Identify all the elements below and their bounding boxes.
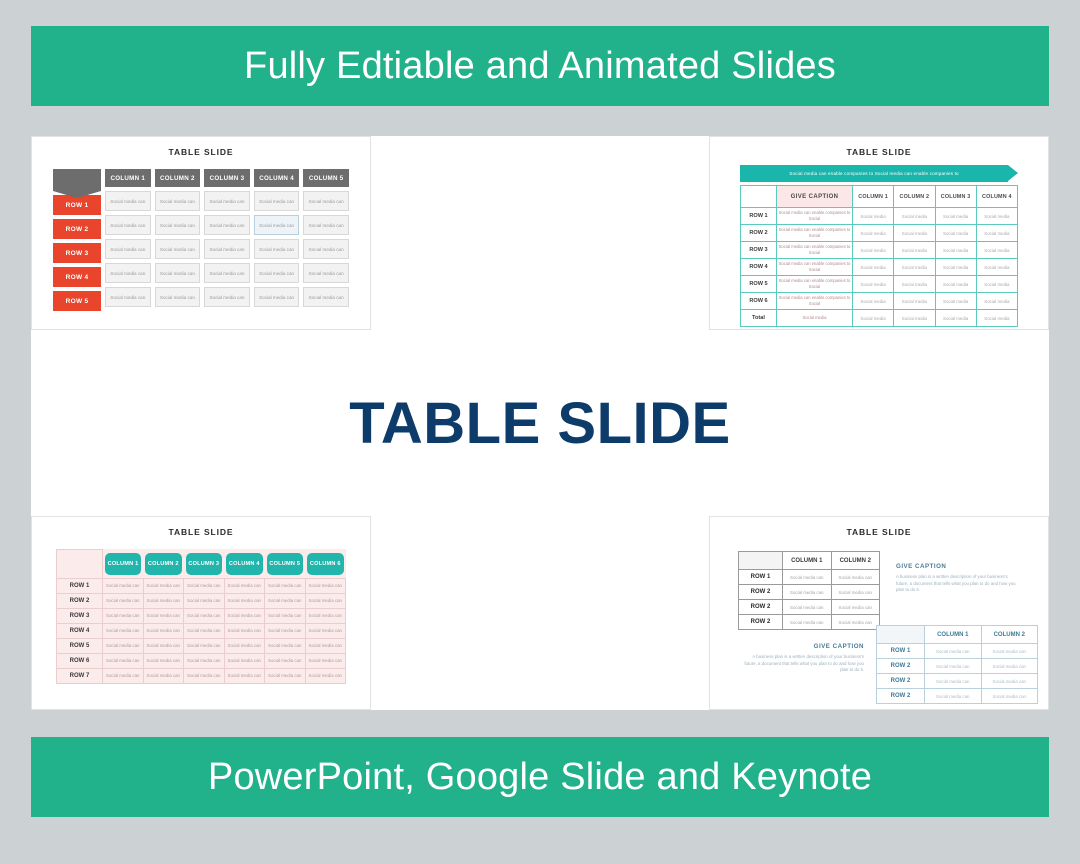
table-cell[interactable]: Social media: [894, 242, 935, 259]
table-cell[interactable]: Social media can: [305, 623, 346, 638]
total-cell[interactable]: Social media: [894, 310, 935, 327]
table-row: ROW 1Social media canSocial media can: [877, 644, 1038, 659]
table-row: ROW 1Social media canSocial media can: [739, 570, 880, 585]
table-cell[interactable]: Social media: [935, 276, 976, 293]
table-cell[interactable]: Social media can: [103, 578, 144, 593]
slide-top-right[interactable]: TABLE SLIDE Social media can enable comp…: [709, 136, 1049, 330]
table-total-row: TotalSocial mediaSocial mediaSocial medi…: [741, 310, 1018, 327]
table-row: ROW 2Social media canSocial media can: [739, 585, 880, 600]
table-cell[interactable]: Social media can: [265, 653, 306, 668]
table-cell[interactable]: Social media can: [303, 239, 349, 259]
column-header[interactable]: COLUMN 1: [925, 626, 982, 644]
row-header-column: ROW 1ROW 2ROW 3ROW 4ROW 5: [53, 169, 101, 311]
table-cell[interactable]: Social media can: [143, 578, 184, 593]
table-cell[interactable]: Social media can: [265, 608, 306, 623]
table-cell[interactable]: Social media can: [204, 263, 250, 283]
table-cell[interactable]: Social media: [894, 276, 935, 293]
column-header[interactable]: COLUMN 2: [155, 169, 201, 187]
bottom-banner-text: PowerPoint, Google Slide and Keynote: [208, 756, 872, 799]
table-cell[interactable]: Social media can: [783, 615, 832, 630]
table-cell[interactable]: Social media can: [105, 263, 151, 283]
table-cell[interactable]: Social media can: [981, 659, 1038, 674]
table-row: ROW 2Social media can enable companies t…: [741, 225, 1018, 242]
row-header[interactable]: ROW 5: [57, 638, 103, 653]
table-cell[interactable]: Social media: [853, 242, 894, 259]
table-cell[interactable]: Social media can: [303, 287, 349, 307]
table-row: ROW 6Social media canSocial media canSoc…: [57, 653, 346, 668]
table-column: COLUMN 5Social media canSocial media can…: [303, 169, 349, 311]
table-cell[interactable]: Social media can: [224, 593, 265, 608]
caption-cell[interactable]: Social media can enable companies to Soc…: [777, 208, 853, 225]
top-banner: Fully Edtiable and Animated Slides: [31, 26, 1049, 106]
table-cell[interactable]: Social media can: [103, 668, 144, 683]
row-header[interactable]: ROW 3: [741, 242, 777, 259]
corner-cell: [57, 550, 103, 579]
table-cell[interactable]: Social media: [976, 259, 1017, 276]
table-cell[interactable]: Social media: [853, 259, 894, 276]
table-cell[interactable]: Social media can: [184, 623, 225, 638]
column-header[interactable]: COLUMN 3: [935, 186, 976, 208]
row-header[interactable]: ROW 4: [741, 259, 777, 276]
table-header-row: COLUMN 1COLUMN 2: [739, 552, 880, 570]
table-row: ROW 2Social media canSocial media can: [739, 615, 880, 630]
table-cell[interactable]: Social media can: [783, 570, 832, 585]
table-cell[interactable]: Social media can: [254, 287, 300, 307]
table-cell[interactable]: Social media: [976, 242, 1017, 259]
caption-a-body: A business plan is a written description…: [896, 574, 1016, 594]
table-cell[interactable]: Social media: [976, 208, 1017, 225]
table-cell[interactable]: Social media can: [265, 668, 306, 683]
table-column: COLUMN 4Social media canSocial media can…: [254, 169, 300, 311]
column-header[interactable]: COLUMN 3: [204, 169, 250, 187]
table-top-right: Social media can enable companies to Soc…: [740, 165, 1018, 327]
table-cell[interactable]: Social media can: [981, 689, 1038, 704]
center-band: [31, 330, 1049, 516]
table-cell[interactable]: Social media: [894, 208, 935, 225]
row-header[interactable]: ROW 2: [741, 225, 777, 242]
table-cell[interactable]: Social media can: [224, 578, 265, 593]
table-row: ROW 4Social media canSocial media canSoc…: [57, 623, 346, 638]
slide-title-top-right: TABLE SLIDE: [710, 147, 1048, 157]
total-cell[interactable]: Social media: [976, 310, 1017, 327]
table-cell[interactable]: Social media: [935, 293, 976, 310]
table-cell[interactable]: Social media can: [204, 287, 250, 307]
table-cell[interactable]: Social media can: [184, 653, 225, 668]
row-header[interactable]: ROW 2: [739, 600, 783, 615]
table-cell[interactable]: Social media: [976, 276, 1017, 293]
table-cell[interactable]: Social media can: [254, 215, 300, 235]
row-header[interactable]: ROW 2: [877, 674, 925, 689]
total-cell[interactable]: Social media: [935, 310, 976, 327]
table-cell[interactable]: Social media can: [303, 263, 349, 283]
table-cell[interactable]: Social media can: [143, 653, 184, 668]
table-cell[interactable]: Social media can: [254, 239, 300, 259]
row-header[interactable]: ROW 5: [741, 276, 777, 293]
table-cell[interactable]: Social media can: [254, 263, 300, 283]
table-cell[interactable]: Social media can: [265, 578, 306, 593]
table-row: ROW 3Social media canSocial media canSoc…: [57, 608, 346, 623]
row-header[interactable]: ROW 2: [877, 659, 925, 674]
table-cell[interactable]: Social media can: [831, 570, 880, 585]
table-row: ROW 5Social media canSocial media canSoc…: [57, 638, 346, 653]
table-cell[interactable]: Social media: [935, 242, 976, 259]
table-header-row: COLUMN 1COLUMN 2: [877, 626, 1038, 644]
table-cell[interactable]: Social media can: [204, 215, 250, 235]
column-header-cell: COLUMN 6: [305, 550, 346, 579]
table-cell[interactable]: Social media can: [831, 585, 880, 600]
column-header-cell: COLUMN 5: [265, 550, 306, 579]
mini-table-b: COLUMN 1COLUMN 2ROW 1Social media canSoc…: [876, 625, 1038, 704]
row-header[interactable]: ROW 4: [57, 623, 103, 638]
table-row: ROW 1Social media canSocial media canSoc…: [57, 578, 346, 593]
column-header-cell: COLUMN 3: [184, 550, 225, 579]
table-cell[interactable]: Social media can: [103, 638, 144, 653]
caption-cell[interactable]: Social media can enable companies to Soc…: [777, 293, 853, 310]
table-row: ROW 4Social media can enable companies t…: [741, 259, 1018, 276]
table-cell[interactable]: Social media: [894, 293, 935, 310]
table-cell[interactable]: Social media can: [224, 608, 265, 623]
table-row: ROW 2Social media canSocial media can: [877, 689, 1038, 704]
row-header[interactable]: ROW 5: [53, 291, 101, 311]
table-cell[interactable]: Social media: [976, 225, 1017, 242]
row-header[interactable]: ROW 2: [877, 689, 925, 704]
table-cell[interactable]: Social media can: [981, 644, 1038, 659]
column-header[interactable]: COLUMN 1: [105, 169, 151, 187]
table-cell[interactable]: Social media can: [981, 674, 1038, 689]
top-center-gap: [371, 136, 709, 330]
total-label: Total: [741, 310, 777, 327]
table-cell[interactable]: Social media can: [143, 668, 184, 683]
table-cell[interactable]: Social media can: [831, 600, 880, 615]
table-cell[interactable]: Social media can: [303, 191, 349, 211]
table-cell[interactable]: Social media can: [224, 638, 265, 653]
table-column: COLUMN 1Social media canSocial media can…: [105, 169, 151, 311]
table-cell[interactable]: Social media can: [305, 638, 346, 653]
column-header[interactable]: COLUMN 5: [303, 169, 349, 187]
table-cell[interactable]: Social media can: [204, 191, 250, 211]
table-cell[interactable]: Social media can: [155, 191, 201, 211]
row-header[interactable]: ROW 2: [739, 615, 783, 630]
column-header-cell: COLUMN 2: [143, 550, 184, 579]
caption-block-b: GIVE CAPTION A business plan is a writte…: [742, 643, 864, 674]
row-header[interactable]: ROW 1: [741, 208, 777, 225]
row-header[interactable]: ROW 6: [57, 653, 103, 668]
table-cell[interactable]: Social media can: [783, 600, 832, 615]
table-row: ROW 3Social media can enable companies t…: [741, 242, 1018, 259]
table-cell[interactable]: Social media can: [204, 239, 250, 259]
caption-header[interactable]: GIVE CAPTION: [777, 186, 853, 208]
table-cell[interactable]: Social media: [894, 225, 935, 242]
column-header[interactable]: COLUMN 2: [831, 552, 880, 570]
table-row: ROW 2Social media canSocial media can: [739, 600, 880, 615]
poster-canvas: Fully Edtiable and Animated Slides TABLE…: [0, 0, 1080, 864]
table-cell[interactable]: Social media can: [103, 608, 144, 623]
table-cell[interactable]: Social media can: [155, 287, 201, 307]
column-header[interactable]: COLUMN 2: [981, 626, 1038, 644]
table-cell[interactable]: Social media can: [224, 623, 265, 638]
table-row: ROW 5Social media can enable companies t…: [741, 276, 1018, 293]
table-cell[interactable]: Social media: [935, 225, 976, 242]
table-cell[interactable]: Social media can: [103, 653, 144, 668]
column-header[interactable]: COLUMN 1: [783, 552, 832, 570]
row-header[interactable]: ROW 6: [741, 293, 777, 310]
table-cell[interactable]: Social media can: [925, 689, 982, 704]
row-header[interactable]: ROW 1: [53, 195, 101, 215]
table-cell[interactable]: Social media can: [105, 239, 151, 259]
table-column: COLUMN 3Social media canSocial media can…: [204, 169, 250, 311]
slide-title-bottom-left: TABLE SLIDE: [32, 527, 370, 537]
table-cell[interactable]: Social media can: [224, 668, 265, 683]
table-cell[interactable]: Social media can: [925, 674, 982, 689]
table-cell[interactable]: Social media can: [143, 638, 184, 653]
table-row: ROW 2Social media canSocial media canSoc…: [57, 593, 346, 608]
table-row: ROW 7Social media canSocial media canSoc…: [57, 668, 346, 683]
table-cell[interactable]: Social media: [976, 293, 1017, 310]
caption-cell[interactable]: Social media can enable companies to Soc…: [777, 276, 853, 293]
table-cell[interactable]: Social media can: [105, 191, 151, 211]
slide-title-bottom-right: TABLE SLIDE: [710, 527, 1048, 537]
table-cell[interactable]: Social media can: [224, 653, 265, 668]
column-header[interactable]: COLUMN 4: [226, 553, 263, 575]
table-cell[interactable]: Social media can: [184, 593, 225, 608]
corner-cell: [739, 552, 783, 570]
column-header[interactable]: COLUMN 2: [894, 186, 935, 208]
row-header[interactable]: ROW 3: [53, 243, 101, 263]
table-cell[interactable]: Social media can: [155, 215, 201, 235]
table-cell[interactable]: Social media can: [184, 608, 225, 623]
table-cell[interactable]: Social media can: [143, 623, 184, 638]
table-row: ROW 6Social media can enable companies t…: [741, 293, 1018, 310]
table-cell[interactable]: Social media can: [155, 263, 201, 283]
table-cell[interactable]: Social media can: [184, 578, 225, 593]
row-header[interactable]: ROW 7: [57, 668, 103, 683]
bottom-banner: PowerPoint, Google Slide and Keynote: [31, 737, 1049, 817]
caption-block-a: GIVE CAPTION A business plan is a writte…: [896, 563, 1016, 594]
column-header[interactable]: COLUMN 4: [976, 186, 1017, 208]
row-header[interactable]: ROW 3: [57, 608, 103, 623]
table-cell[interactable]: Social media can: [925, 659, 982, 674]
slide-bottom-left[interactable]: TABLE SLIDE COLUMN 1COLUMN 2COLUMN 3COLU…: [31, 516, 371, 710]
table-cell[interactable]: Social media can: [103, 593, 144, 608]
table-cell[interactable]: Social media can: [184, 668, 225, 683]
table-cell[interactable]: Social media can: [305, 578, 346, 593]
table-cell[interactable]: Social media: [894, 259, 935, 276]
row-header[interactable]: ROW 1: [877, 644, 925, 659]
table-cell[interactable]: Social media can: [305, 593, 346, 608]
table-column: COLUMN 2Social media canSocial media can…: [155, 169, 201, 311]
table-cell[interactable]: Social media: [935, 259, 976, 276]
row-header[interactable]: ROW 2: [739, 585, 783, 600]
table-cell[interactable]: Social media can: [143, 608, 184, 623]
table-banner: Social media can enable companies to Soc…: [740, 165, 1008, 182]
table-cell[interactable]: Social media: [853, 225, 894, 242]
table-cell[interactable]: Social media can: [105, 287, 151, 307]
table-top-left: ROW 1ROW 2ROW 3ROW 4ROW 5COLUMN 1Social …: [53, 169, 349, 311]
table-cell[interactable]: Social media can: [254, 191, 300, 211]
column-header[interactable]: COLUMN 4: [254, 169, 300, 187]
table-row: ROW 1Social media can enable companies t…: [741, 208, 1018, 225]
table-cell[interactable]: Social media: [935, 208, 976, 225]
bottom-center-gap: [371, 516, 709, 710]
table-cell[interactable]: Social media can: [155, 239, 201, 259]
column-header[interactable]: COLUMN 3: [186, 553, 223, 575]
mini-table-a: COLUMN 1COLUMN 2ROW 1Social media canSoc…: [738, 551, 880, 630]
top-banner-text: Fully Edtiable and Animated Slides: [244, 45, 836, 88]
column-header[interactable]: COLUMN 6: [307, 553, 344, 575]
table-cell[interactable]: Social media: [853, 208, 894, 225]
table-banner-text: Social media can enable companies to Soc…: [789, 171, 959, 176]
table-cell[interactable]: Social media can: [305, 653, 346, 668]
column-header[interactable]: COLUMN 1: [105, 553, 141, 575]
arrow-pointer-icon: [53, 169, 101, 191]
row-header[interactable]: ROW 2: [57, 593, 103, 608]
column-header-cell: COLUMN 4: [224, 550, 265, 579]
table-cell[interactable]: Social media can: [105, 215, 151, 235]
slide-top-left[interactable]: TABLE SLIDE ROW 1ROW 2ROW 3ROW 4ROW 5COL…: [31, 136, 371, 330]
column-header[interactable]: COLUMN 5: [267, 553, 304, 575]
column-header[interactable]: COLUMN 2: [145, 553, 182, 575]
column-header[interactable]: COLUMN 1: [853, 186, 894, 208]
table-cell[interactable]: Social media can: [925, 644, 982, 659]
table-cell[interactable]: Social media can: [103, 623, 144, 638]
row-header[interactable]: ROW 4: [53, 267, 101, 287]
caption-a-title: GIVE CAPTION: [896, 563, 1016, 570]
caption-b-body: A business plan is a written description…: [742, 654, 864, 674]
table-cell[interactable]: Social media can: [783, 585, 832, 600]
row-header[interactable]: ROW 1: [57, 578, 103, 593]
corner-cell: [741, 186, 777, 208]
table-cell[interactable]: Social media: [853, 293, 894, 310]
row-header[interactable]: ROW 1: [739, 570, 783, 585]
total-caption-cell[interactable]: Social media: [777, 310, 853, 327]
bottom-right-body: COLUMN 1COLUMN 2ROW 1Social media canSoc…: [710, 537, 1048, 697]
table-cell[interactable]: Social media can: [265, 623, 306, 638]
table-cell[interactable]: Social media can: [305, 608, 346, 623]
table-row: ROW 2Social media canSocial media can: [877, 674, 1038, 689]
table-row: ROW 2Social media canSocial media can: [877, 659, 1038, 674]
table-cell[interactable]: Social media can: [831, 615, 880, 630]
total-cell[interactable]: Social media: [853, 310, 894, 327]
table-header-row: COLUMN 1COLUMN 2COLUMN 3COLUMN 4COLUMN 5…: [57, 550, 346, 579]
slide-bottom-right[interactable]: TABLE SLIDE COLUMN 1COLUMN 2ROW 1Social …: [709, 516, 1049, 710]
table-cell[interactable]: Social media can: [184, 638, 225, 653]
column-header-cell: COLUMN 1: [103, 550, 144, 579]
row-header[interactable]: ROW 2: [53, 219, 101, 239]
corner-cell: [877, 626, 925, 644]
table-cell[interactable]: Social media can: [265, 638, 306, 653]
caption-b-title: GIVE CAPTION: [742, 643, 864, 650]
caption-cell[interactable]: Social media can enable companies to Soc…: [777, 259, 853, 276]
caption-cell[interactable]: Social media can enable companies to Soc…: [777, 225, 853, 242]
table-header-row: GIVE CAPTIONCOLUMN 1COLUMN 2COLUMN 3COLU…: [741, 186, 1018, 208]
slide-title-top-left: TABLE SLIDE: [32, 147, 370, 157]
table-cell[interactable]: Social media can: [305, 668, 346, 683]
table-cell[interactable]: Social media can: [143, 593, 184, 608]
table-cell[interactable]: Social media: [853, 276, 894, 293]
caption-cell[interactable]: Social media can enable companies to Soc…: [777, 242, 853, 259]
table-cell[interactable]: Social media can: [265, 593, 306, 608]
table-bottom-left: COLUMN 1COLUMN 2COLUMN 3COLUMN 4COLUMN 5…: [56, 549, 346, 684]
table-cell[interactable]: Social media can: [303, 215, 349, 235]
